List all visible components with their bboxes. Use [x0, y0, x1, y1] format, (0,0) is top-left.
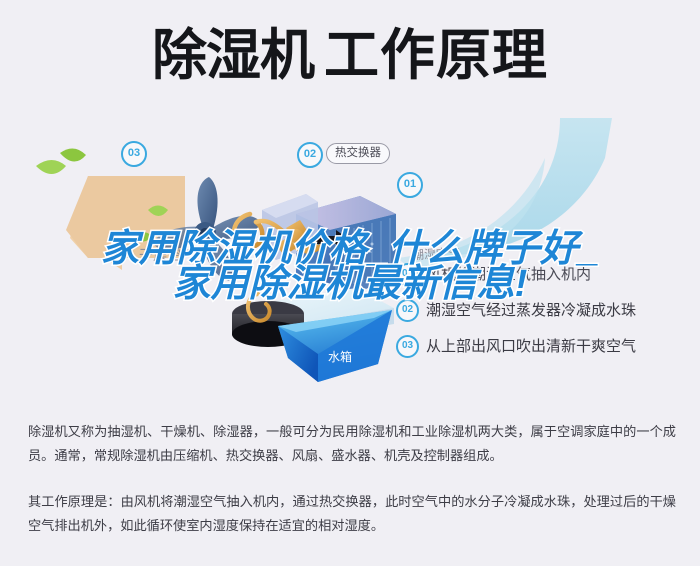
- poster-root: 除湿机工作原理: [0, 0, 700, 566]
- step-badge-03: 03: [396, 335, 419, 358]
- water-tank-label: 水箱: [328, 350, 352, 365]
- page-title-part-b: 工作原理: [324, 24, 548, 86]
- diagram-badge-03: 03: [121, 141, 147, 167]
- overlay-headline-text: 家用除湿机价格_什么牌子好_家用除湿机最新信息!: [96, 232, 604, 302]
- overlay-headline: 家用除湿机价格_什么牌子好_家用除湿机最新信息!: [96, 232, 604, 302]
- body-copy: 除湿机又称为抽湿机、干燥机、除湿器，一般可分为民用除湿机和工业除湿机两大类，属于…: [28, 420, 676, 538]
- leaf-icon: [60, 148, 86, 161]
- page-title-part-a: 除湿机: [152, 24, 314, 86]
- heat-exchanger-callout: 热交换器: [326, 143, 390, 164]
- body-paragraph-2: 其工作原理是：由风机将潮湿空气抽入机内，通过热交换器，此时空气中的水分子冷凝成水…: [28, 490, 676, 538]
- body-paragraph-1: 除湿机又称为抽湿机、干燥机、除湿器，一般可分为民用除湿机和工业除湿机两大类，属于…: [28, 420, 676, 468]
- leaf-icon: [36, 160, 66, 174]
- page-header: 除湿机工作原理: [0, 24, 700, 86]
- step-text-03: 从上部出风口吹出清新干爽空气: [426, 337, 636, 356]
- diagram-badge-01: 01: [397, 172, 423, 198]
- diagram-badge-02: 02: [297, 142, 323, 168]
- page-title: 除湿机工作原理: [152, 24, 548, 86]
- step-item: 03 从上部出风口吹出清新干爽空气: [396, 328, 696, 364]
